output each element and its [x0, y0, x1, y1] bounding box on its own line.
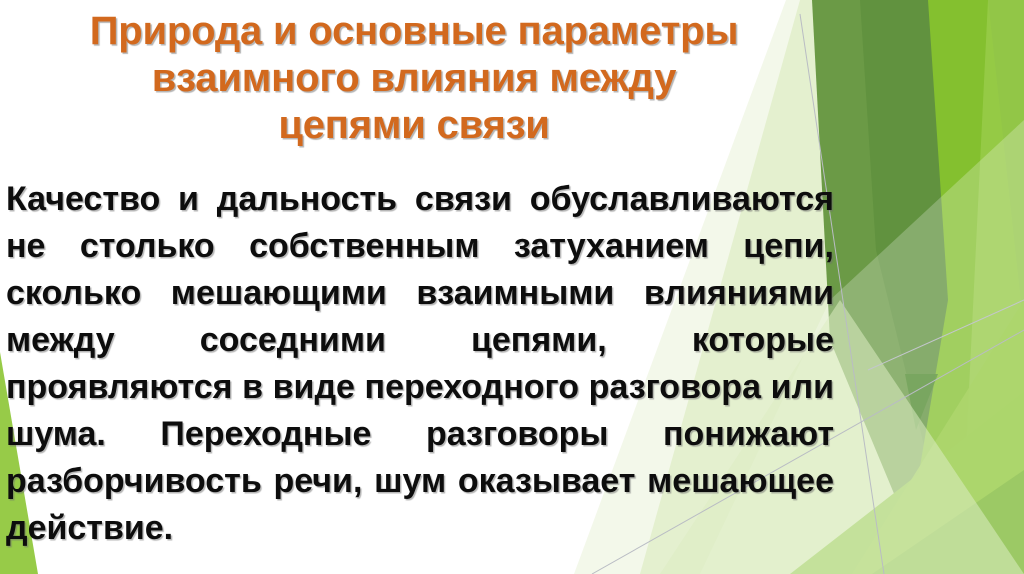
slide-content: Природа и основные параметры взаимного в…: [0, 0, 1024, 574]
presentation-slide: Природа и основные параметры взаимного в…: [0, 0, 1024, 574]
body-last-line: мешающее действие.: [6, 462, 834, 547]
body-paragraph: Качество и дальность связи обуславливают…: [6, 176, 834, 574]
body-block: Качество и дальность связи обуславливают…: [6, 176, 834, 574]
title-block: Природа и основные параметры взаимного в…: [8, 8, 820, 149]
page-title: Природа и основные параметры взаимного в…: [8, 8, 820, 149]
